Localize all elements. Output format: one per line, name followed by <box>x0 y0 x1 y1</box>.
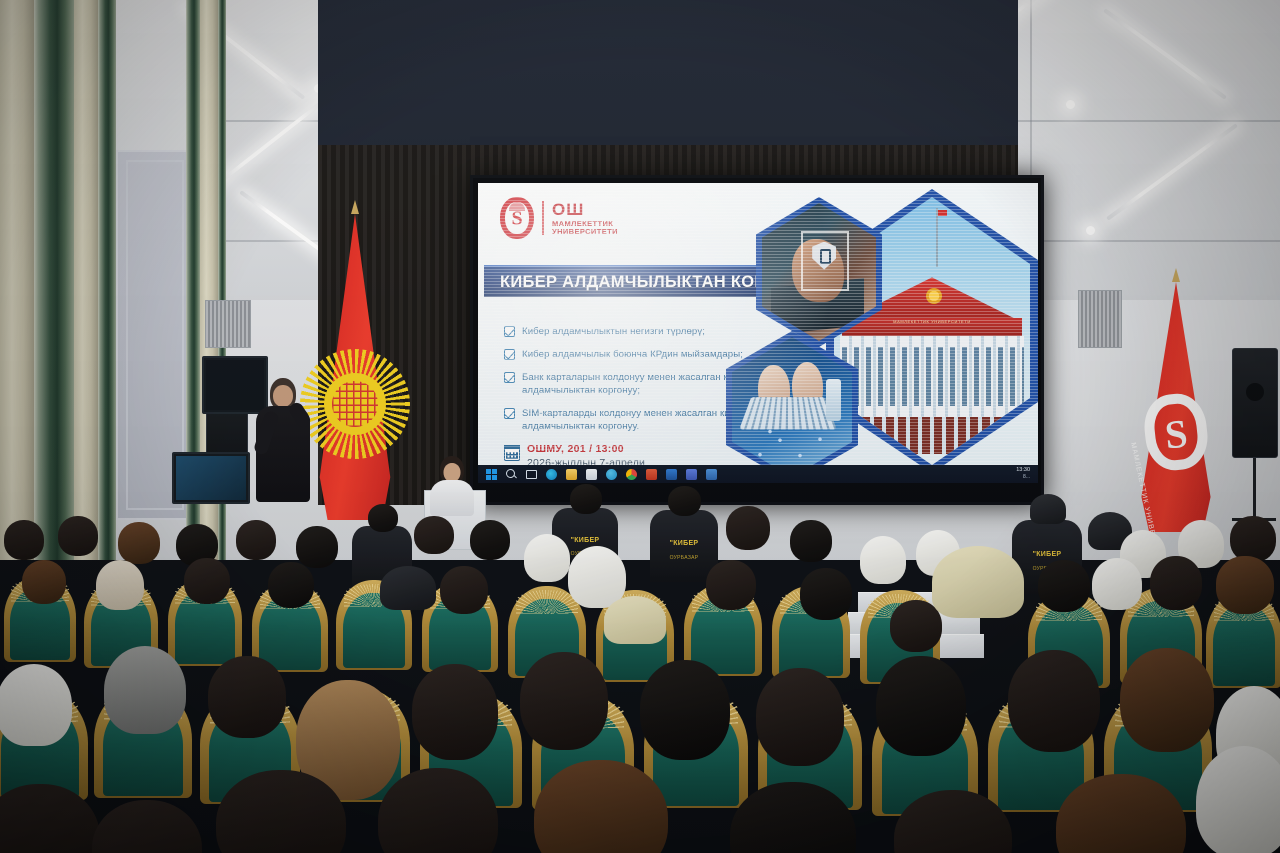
chrome-icon[interactable] <box>626 469 637 480</box>
head <box>876 656 966 756</box>
head <box>568 546 626 608</box>
head <box>790 520 832 562</box>
start-button[interactable] <box>486 469 497 480</box>
standing-presenter <box>250 378 316 518</box>
presentation-slide: S ОШ МАМЛЕКЕТТИК УНИВЕРСИТЕТИ КИБЕР АЛДА… <box>478 183 1038 483</box>
osh-flag-emblem: S <box>1141 391 1211 473</box>
head <box>1008 650 1100 752</box>
kyrgyzstan-flag <box>306 214 404 520</box>
air-vent <box>1078 290 1122 348</box>
led-display-panel: S ОШ МАМЛЕКЕТТИК УНИВЕРСИТЕТИ КИБЕР АЛДА… <box>470 175 1044 505</box>
kyrgyz-sun-emblem <box>312 361 398 447</box>
head <box>414 516 454 554</box>
head <box>1092 558 1142 610</box>
hexagon-image-collage <box>766 183 1038 483</box>
head <box>570 484 602 514</box>
head <box>412 664 498 760</box>
podium-host <box>428 456 476 512</box>
jacket-text: "КИБЕР <box>670 540 699 547</box>
footer-location-time: ОШМУ, 201 / 13:00 <box>527 443 645 455</box>
logo-line-2: МАМЛЕКЕТТИК <box>552 220 618 228</box>
file-explorer-icon[interactable] <box>566 469 577 480</box>
head <box>104 646 186 734</box>
head <box>22 560 66 604</box>
onenote-icon[interactable] <box>586 469 597 480</box>
word-icon[interactable] <box>666 469 677 480</box>
head <box>604 596 666 644</box>
clock-date: 8... <box>1016 474 1030 481</box>
staff-member: "КИБЕР ОУРБАЗАР <box>650 510 718 582</box>
head <box>118 522 160 564</box>
task-view-icon[interactable] <box>526 470 537 479</box>
head <box>756 668 844 766</box>
lecture-hall-photo: S ОШ МАМЛЕКЕТТИК УНИВЕРСИТЕТИ КИБЕР АЛДА… <box>0 0 1280 853</box>
windows-taskbar[interactable]: 13:30 8... <box>478 465 1038 483</box>
control-monitor <box>172 452 250 504</box>
head <box>184 558 230 604</box>
head <box>0 664 72 746</box>
head <box>58 516 98 556</box>
host-body <box>430 480 474 516</box>
telegram-icon[interactable] <box>606 469 617 480</box>
head <box>1038 560 1090 612</box>
head <box>668 486 701 516</box>
jacket-text: "КИБЕР <box>571 537 600 544</box>
head <box>1030 494 1066 524</box>
head <box>800 568 852 620</box>
osh-state-university-emblem: S <box>500 197 534 239</box>
flag-finial <box>1172 268 1180 282</box>
head <box>932 546 1024 618</box>
checkbox-icon <box>504 372 515 383</box>
head <box>1196 746 1280 853</box>
logo-line-3: УНИВЕРСИТЕТИ <box>552 228 618 236</box>
checkbox-icon <box>504 408 515 419</box>
head <box>96 560 144 610</box>
head <box>640 660 730 760</box>
head <box>860 536 906 584</box>
clock-time: 13:30 <box>1016 467 1030 474</box>
bullet-text: Кибер алдамчылык боюнча КРдин мыйзамдары… <box>522 348 743 361</box>
jacket-text-secondary: ОУРБАЗАР <box>670 555 699 561</box>
head <box>470 520 510 560</box>
osh-state-university-flag: S МАМЛЕКЕТТИК УНИВЕРСИТЕТИ <box>1128 282 1224 532</box>
list-item: Кибер алдамчылыктын негизги түрлөрү; <box>504 325 804 338</box>
powerpoint-icon[interactable] <box>646 469 657 480</box>
head <box>296 526 338 568</box>
head <box>92 800 202 853</box>
head <box>440 566 488 614</box>
head <box>268 562 314 608</box>
jacket-text: "КИБЕР <box>1033 551 1062 558</box>
head <box>368 504 398 532</box>
head <box>524 534 570 582</box>
head <box>1216 556 1274 614</box>
checkbox-icon <box>504 326 515 337</box>
head <box>706 560 756 610</box>
checkbox-icon <box>504 349 515 360</box>
head <box>208 656 286 738</box>
calendar-icon <box>504 445 520 461</box>
presenter-face <box>273 385 293 407</box>
head <box>1150 556 1202 610</box>
head <box>726 506 770 550</box>
air-vent <box>205 300 251 348</box>
settings-icon[interactable] <box>706 469 717 480</box>
taskbar-clock[interactable]: 13:30 8... <box>1016 467 1030 481</box>
flag-finial <box>351 200 359 214</box>
edge-icon[interactable] <box>546 469 557 480</box>
bullet-text: Кибер алдамчылыктын негизги түрлөрү; <box>522 325 705 338</box>
head <box>236 520 276 560</box>
head <box>4 520 44 560</box>
pa-speaker <box>1232 348 1278 458</box>
head <box>1120 648 1214 752</box>
left-columns <box>0 0 200 560</box>
head <box>1230 516 1276 562</box>
head <box>380 566 436 610</box>
head <box>520 652 608 750</box>
teams-icon[interactable] <box>686 469 697 480</box>
search-icon[interactable] <box>506 469 517 480</box>
logo-line-1: ОШ <box>552 201 618 218</box>
university-logo: S ОШ МАМЛЕКЕТТИК УНИВЕРСИТЕТИ <box>500 197 618 239</box>
